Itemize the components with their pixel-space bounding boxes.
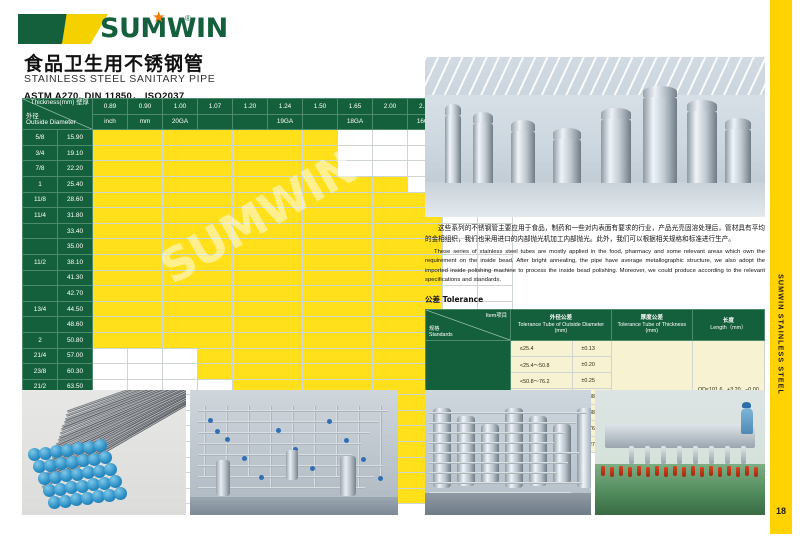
thickness-col-header: 1.20: [233, 99, 268, 115]
dairy-pipe: [429, 422, 576, 424]
availability-cell-filled: [303, 317, 338, 333]
corner-thickness-label: Thickness(mm) 壁厚: [31, 100, 89, 107]
photo-factory-hall: [425, 57, 765, 217]
bottle: [745, 466, 749, 476]
row-inch-cell: 7/8: [23, 161, 58, 177]
bottle: [736, 467, 740, 477]
filler-nozzle: [661, 446, 666, 464]
availability-cell-filled: [198, 192, 233, 208]
availability-cell-filled: [268, 317, 303, 333]
availability-cell-filled: [163, 192, 198, 208]
availability-cell-empty: [373, 130, 408, 146]
bottle: [655, 466, 659, 476]
availability-cell-filled: [233, 254, 268, 270]
filling-machine: [605, 424, 755, 448]
pipe-end-cap: [114, 487, 127, 500]
availability-cell-filled: [268, 208, 303, 224]
availability-cell-filled: [128, 208, 163, 224]
availability-cell-filled: [233, 364, 268, 380]
star-icon: ★: [152, 10, 165, 25]
availability-cell-filled: [338, 223, 373, 239]
availability-cell-filled: [198, 130, 233, 146]
availability-cell-filled: [338, 286, 373, 302]
availability-cell-filled: [373, 239, 408, 255]
page-number: 18: [770, 506, 792, 516]
dairy-pipe: [429, 462, 568, 464]
row-inch-cell: [23, 286, 58, 302]
horizontal-pipe: [198, 454, 352, 456]
row-mm-cell: 38.10: [58, 254, 93, 270]
availability-cell-filled: [303, 192, 338, 208]
availability-cell-filled: [303, 130, 338, 146]
availability-cell-filled: [198, 176, 233, 192]
unit-spacer-cell: [198, 114, 233, 130]
availability-cell-filled: [268, 348, 303, 364]
dairy-pipe: [429, 452, 579, 454]
availability-cell-filled: [268, 192, 303, 208]
availability-cell-filled: [163, 208, 198, 224]
tolerance-od-header: 外径公差 Tolerance Tube of Outside Diameter …: [511, 310, 612, 341]
row-mm-cell: 57.00: [58, 348, 93, 364]
availability-cell-filled: [373, 208, 408, 224]
availability-cell-filled: [128, 130, 163, 146]
availability-cell-filled: [93, 192, 128, 208]
tolerance-range-cell: ≤25.4: [511, 341, 573, 357]
row-mm-cell: 25.40: [58, 176, 93, 192]
availability-cell-filled: [128, 161, 163, 177]
process-column: [601, 119, 631, 183]
dairy-pipe: [429, 472, 557, 474]
availability-cell-filled: [163, 239, 198, 255]
availability-cell-empty: [338, 161, 373, 177]
row-inch-cell: 3/4: [23, 145, 58, 161]
thickness-col-header: 0.90: [128, 99, 163, 115]
bottle: [727, 466, 731, 476]
availability-cell-filled: [338, 208, 373, 224]
bottle: [691, 466, 695, 476]
dairy-tank: [433, 408, 451, 488]
row-mm-cell: 31.80: [58, 208, 93, 224]
thickness-col-header: 1.50: [303, 99, 338, 115]
valve-handle: [208, 418, 213, 423]
availability-cell-filled: [338, 332, 373, 348]
column-dome: [445, 104, 461, 115]
dairy-pipe: [429, 412, 587, 414]
availability-cell-filled: [303, 286, 338, 302]
photo-bottling-line: [595, 390, 765, 515]
unit-spacer-cell: [373, 114, 408, 130]
availability-cell-filled: [93, 223, 128, 239]
availability-cell-filled: [233, 239, 268, 255]
column-dome: [473, 112, 493, 123]
description-en: These series of stainless steel tubes ar…: [425, 248, 765, 286]
unit-spacer-cell: 18GA: [338, 114, 373, 130]
availability-cell-filled: [163, 130, 198, 146]
availability-cell-filled: [198, 239, 233, 255]
photo-dairy-plant: [425, 390, 591, 515]
registered-trademark-icon: ®: [185, 14, 191, 23]
column-dome: [601, 108, 631, 119]
floor: [425, 493, 591, 515]
availability-cell-filled: [198, 270, 233, 286]
dairy-tank: [529, 416, 547, 486]
photo-pipe-bundle: [22, 390, 186, 515]
row-inch-cell: [23, 317, 58, 333]
row-inch-cell: 21/4: [23, 348, 58, 364]
filler-nozzle: [645, 446, 650, 464]
availability-cell-filled: [268, 254, 303, 270]
availability-cell-filled: [233, 332, 268, 348]
availability-cell-filled: [163, 301, 198, 317]
filler-nozzle: [629, 446, 634, 464]
availability-cell-empty: [373, 161, 408, 177]
thickness-col-header: 0.89: [93, 99, 128, 115]
availability-cell-filled: [303, 161, 338, 177]
availability-cell-filled: [233, 348, 268, 364]
bottle: [709, 466, 713, 476]
availability-cell-filled: [163, 145, 198, 161]
unit-inch-header: inch: [93, 114, 128, 130]
availability-cell-filled: [303, 176, 338, 192]
bottle: [601, 466, 605, 476]
availability-cell-filled: [373, 301, 408, 317]
tolerance-item-label: Item项目: [486, 311, 507, 319]
tolerance-length-header: 长度 Length（mm）: [692, 310, 764, 341]
tolerance-standards-label: 规格 Standards: [429, 327, 453, 339]
thickness-col-header: 1.07: [198, 99, 233, 115]
availability-cell-filled: [93, 301, 128, 317]
availability-cell-filled: [373, 176, 408, 192]
availability-cell-filled: [163, 176, 198, 192]
availability-cell-filled: [198, 208, 233, 224]
column-dome: [643, 86, 677, 97]
row-inch-cell: 5/8: [23, 130, 58, 146]
availability-cell-filled: [233, 145, 268, 161]
filler-nozzle: [741, 446, 746, 464]
availability-cell-filled: [303, 239, 338, 255]
availability-cell-filled: [163, 223, 198, 239]
availability-cell-filled: [128, 192, 163, 208]
row-mm-cell: 22.20: [58, 161, 93, 177]
photo-process-skid: [190, 390, 398, 515]
valve-handle: [310, 466, 315, 471]
tolerance-value-cell: ±0.25: [572, 373, 611, 389]
availability-cell-filled: [303, 223, 338, 239]
availability-cell-filled: [268, 176, 303, 192]
row-inch-cell: 13/4: [23, 301, 58, 317]
unit-mm-header: mm: [128, 114, 163, 130]
valve-handle: [215, 429, 220, 434]
availability-cell-filled: [198, 364, 233, 380]
pump-body: [216, 460, 230, 496]
row-mm-cell: 42.70: [58, 286, 93, 302]
bottle: [619, 466, 623, 476]
thickness-col-header: 2.00: [373, 99, 408, 115]
availability-cell-filled: [128, 286, 163, 302]
availability-cell-filled: [373, 364, 408, 380]
brand-logo: SUMWIN ★ ®: [18, 8, 238, 48]
availability-cell-empty: [163, 348, 198, 364]
process-column: [687, 111, 717, 183]
corner-od-label: 外径 Outside Diameter: [26, 114, 76, 127]
column-dome: [511, 120, 535, 131]
bottle: [664, 467, 668, 477]
availability-cell-filled: [268, 239, 303, 255]
filler-nozzle: [725, 446, 730, 464]
bottle: [754, 467, 758, 477]
availability-cell-filled: [198, 254, 233, 270]
floor: [190, 497, 398, 515]
availability-cell-filled: [233, 208, 268, 224]
valve-handle: [242, 456, 247, 461]
availability-cell-filled: [93, 286, 128, 302]
process-column: [511, 131, 535, 183]
availability-cell-filled: [338, 176, 373, 192]
availability-cell-filled: [198, 301, 233, 317]
page-title-cn: 食品卫生用不锈钢管: [24, 49, 204, 76]
unit-spacer-cell: 19GA: [268, 114, 303, 130]
availability-cell-filled: [373, 254, 408, 270]
availability-cell-filled: [268, 332, 303, 348]
availability-cell-filled: [198, 223, 233, 239]
availability-cell-filled: [93, 208, 128, 224]
availability-cell-empty: [163, 364, 198, 380]
valve-handle: [259, 475, 264, 480]
availability-cell-empty: [128, 348, 163, 364]
column-dome: [553, 128, 581, 139]
row-inch-cell: 23/8: [23, 364, 58, 380]
availability-cell-filled: [338, 348, 373, 364]
valve-handle: [327, 419, 332, 424]
availability-cell-empty: [338, 130, 373, 146]
availability-cell-filled: [198, 348, 233, 364]
availability-cell-filled: [93, 145, 128, 161]
bottle: [718, 467, 722, 477]
availability-cell-filled: [233, 130, 268, 146]
availability-cell-filled: [268, 223, 303, 239]
availability-cell-filled: [268, 286, 303, 302]
availability-cell-filled: [233, 192, 268, 208]
availability-cell-filled: [128, 145, 163, 161]
bottle: [628, 467, 632, 477]
availability-cell-filled: [338, 254, 373, 270]
row-mm-cell: 19.10: [58, 145, 93, 161]
column-dome: [725, 118, 751, 129]
availability-cell-filled: [373, 270, 408, 286]
availability-cell-filled: [163, 161, 198, 177]
availability-cell-filled: [303, 364, 338, 380]
unit-spacer-cell: [233, 114, 268, 130]
tolerance-row: ASTM A270≤25.4±0.13±10.0%OD≤101.6 +3.20 …: [426, 341, 765, 357]
dairy-pipe: [429, 442, 554, 444]
filler-nozzle: [693, 446, 698, 464]
row-mm-cell: 28.60: [58, 192, 93, 208]
availability-cell-filled: [128, 223, 163, 239]
availability-cell-filled: [233, 317, 268, 333]
availability-cell-empty: [128, 364, 163, 380]
row-inch-cell: 11/2: [23, 254, 58, 270]
availability-cell-filled: [268, 130, 303, 146]
row-inch-cell: [23, 239, 58, 255]
availability-cell-filled: [338, 239, 373, 255]
horizontal-pipe: [198, 432, 370, 434]
bottle: [682, 467, 686, 477]
row-mm-cell: 33.40: [58, 223, 93, 239]
availability-cell-filled: [268, 145, 303, 161]
process-column: [643, 97, 677, 183]
availability-cell-empty: [338, 145, 373, 161]
row-inch-cell: 11/4: [23, 208, 58, 224]
availability-cell-filled: [268, 301, 303, 317]
row-inch-cell: 1: [23, 176, 58, 192]
availability-cell-filled: [93, 176, 128, 192]
column-dome: [687, 100, 717, 111]
availability-cell-empty: [93, 364, 128, 380]
availability-cell-filled: [93, 254, 128, 270]
dairy-tank: [505, 408, 523, 488]
tolerance-thickness-header: 厚度公差 Tolerance Tube of Thickness (mm): [611, 310, 692, 341]
dairy-pipe: [429, 482, 582, 484]
row-mm-cell: 60.30: [58, 364, 93, 380]
process-column: [553, 139, 581, 183]
pump-body: [340, 456, 356, 496]
availability-cell-filled: [233, 223, 268, 239]
availability-cell-filled: [128, 332, 163, 348]
availability-cell-filled: [303, 332, 338, 348]
availability-cell-filled: [198, 332, 233, 348]
process-column: [473, 123, 493, 183]
availability-cell-filled: [268, 161, 303, 177]
catalog-page: SUMWIN ★ ® 食品卫生用不锈钢管 STAINLESS STEEL SAN…: [0, 0, 800, 542]
availability-cell-filled: [198, 286, 233, 302]
dairy-pipe: [429, 432, 565, 434]
availability-cell-filled: [93, 130, 128, 146]
row-mm-cell: 35.00: [58, 239, 93, 255]
unit-spacer-cell: [303, 114, 338, 130]
row-mm-cell: 50.80: [58, 332, 93, 348]
side-tab: SUMWIN STAINLESS STEEL 18: [770, 0, 792, 534]
availability-cell-filled: [268, 364, 303, 380]
availability-cell-filled: [303, 208, 338, 224]
availability-cell-filled: [268, 270, 303, 286]
bottle: [646, 467, 650, 477]
availability-cell-filled: [233, 301, 268, 317]
horizontal-pipe: [198, 410, 388, 412]
valve-handle: [361, 457, 366, 462]
filler-nozzle: [677, 446, 682, 464]
page-title-en: STAINLESS STEEL SANITARY PIPE: [24, 73, 215, 85]
worker: [741, 408, 753, 434]
availability-cell-filled: [93, 317, 128, 333]
availability-cell-empty: [93, 348, 128, 364]
tolerance-corner-header: Item项目 规格 Standards: [426, 310, 511, 341]
valve-handle: [276, 428, 281, 433]
availability-cell-filled: [233, 286, 268, 302]
availability-cell-filled: [163, 270, 198, 286]
row-mm-cell: 41.30: [58, 270, 93, 286]
availability-cell-filled: [93, 332, 128, 348]
availability-cell-filled: [303, 145, 338, 161]
horizontal-pipe: [198, 421, 379, 423]
availability-cell-filled: [128, 317, 163, 333]
availability-cell-filled: [93, 161, 128, 177]
table-corner-header: Thickness(mm) 壁厚 外径 Outside Diameter: [23, 99, 93, 130]
bottle: [673, 466, 677, 476]
row-inch-cell: 11/8: [23, 192, 58, 208]
tolerance-range-cell: <25.4～50.8: [511, 357, 573, 373]
availability-cell-filled: [93, 270, 128, 286]
availability-cell-filled: [373, 317, 408, 333]
availability-cell-filled: [128, 270, 163, 286]
horizontal-pipe: [198, 443, 361, 445]
valve-handle: [225, 437, 230, 442]
availability-cell-filled: [163, 286, 198, 302]
conveyor-base: [595, 494, 765, 515]
availability-cell-filled: [303, 301, 338, 317]
availability-cell-filled: [338, 364, 373, 380]
availability-cell-filled: [233, 270, 268, 286]
tolerance-value-cell: ±0.13: [572, 341, 611, 357]
availability-cell-filled: [198, 317, 233, 333]
description-cn: 这些系列的不锈钢管主要应用于食品，制药和一些对内表面有要求的行业，产品光亮固溶处…: [425, 223, 765, 245]
availability-cell-filled: [338, 270, 373, 286]
availability-cell-filled: [93, 239, 128, 255]
availability-cell-filled: [338, 317, 373, 333]
pump-body: [286, 450, 298, 480]
availability-cell-filled: [233, 176, 268, 192]
availability-cell-filled: [373, 223, 408, 239]
availability-cell-filled: [198, 161, 233, 177]
process-column: [725, 129, 751, 183]
availability-cell-filled: [338, 301, 373, 317]
bottle: [637, 466, 641, 476]
filler-nozzle: [709, 446, 714, 464]
row-inch-cell: [23, 223, 58, 239]
availability-cell-filled: [233, 161, 268, 177]
row-inch-cell: [23, 270, 58, 286]
row-inch-cell: 2: [23, 332, 58, 348]
unit-spacer-cell: 20GA: [163, 114, 198, 130]
thickness-col-header: 1.65: [338, 99, 373, 115]
process-column: [445, 115, 461, 183]
valve-handle: [344, 438, 349, 443]
thickness-col-header: 1.00: [163, 99, 198, 115]
availability-cell-filled: [303, 270, 338, 286]
row-mm-cell: 44.50: [58, 301, 93, 317]
dairy-tank: [577, 408, 591, 488]
availability-cell-filled: [373, 348, 408, 364]
row-mm-cell: 48.60: [58, 317, 93, 333]
availability-cell-empty: [373, 145, 408, 161]
availability-cell-filled: [128, 239, 163, 255]
logo-mark-icon: [18, 14, 104, 44]
worker-cap: [742, 402, 751, 408]
availability-cell-filled: [338, 192, 373, 208]
row-mm-cell: 15.90: [58, 130, 93, 146]
side-tab-label: SUMWIN STAINLESS STEEL: [777, 274, 786, 395]
dairy-tank: [457, 416, 475, 486]
availability-cell-filled: [373, 332, 408, 348]
availability-cell-filled: [163, 317, 198, 333]
tolerance-value-cell: ±0.20: [572, 357, 611, 373]
thickness-col-header: 1.24: [268, 99, 303, 115]
tolerance-range-cell: <50.8～76.2: [511, 373, 573, 389]
availability-cell-filled: [303, 348, 338, 364]
bottle: [700, 467, 704, 477]
availability-cell-filled: [373, 192, 408, 208]
availability-cell-filled: [373, 286, 408, 302]
tolerance-heading: 公差 Tolerance: [425, 294, 765, 305]
